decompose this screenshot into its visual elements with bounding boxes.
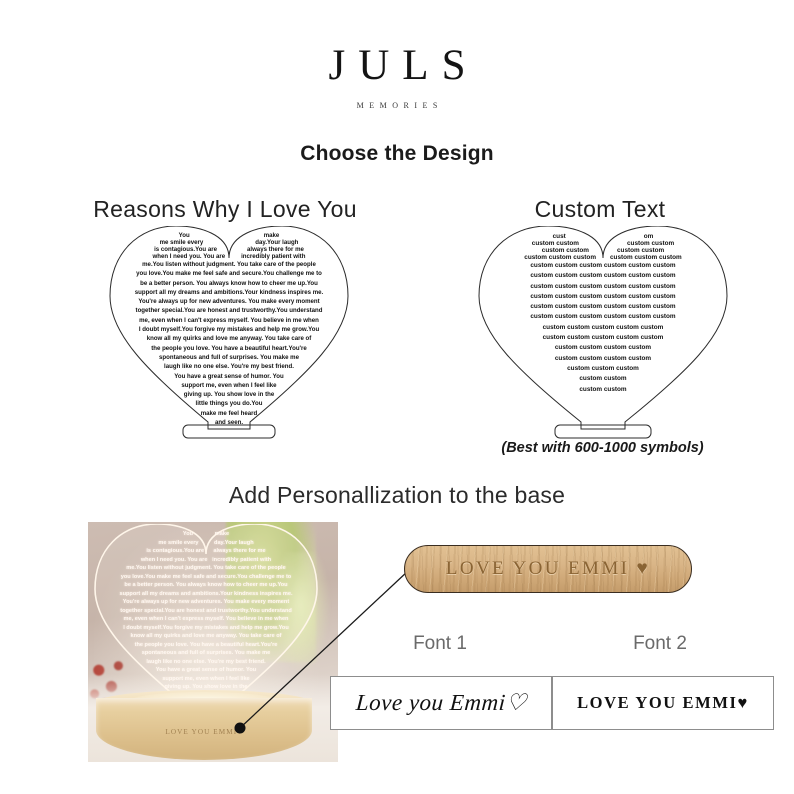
heart-line: me.You listen without judgment. You take…	[90, 564, 322, 573]
design-option-reasons-why[interactable]: Youmakeme smile everyday.Your laughis co…	[104, 226, 354, 441]
heart-line: You're always up for new adventures. You…	[90, 598, 322, 607]
heart-line: me, even when I can't express myself. Yo…	[90, 615, 322, 624]
heart-line: I doubt myself.You forgive my mistakes a…	[90, 624, 322, 633]
symbols-hint: (Best with 600-1000 symbols)	[455, 440, 750, 456]
base-engraving-text: LOVE YOU EMMI♥	[96, 728, 312, 736]
font-1-option[interactable]: Love you Emmi♡	[330, 676, 552, 730]
add-personalization-heading: Add Personallization to the base	[0, 482, 794, 509]
choose-design-heading: Choose the Design	[0, 142, 794, 166]
heart-line: when I need you. You are incredibly pati…	[90, 556, 322, 565]
heart-line: support me, even when I feel like	[90, 675, 322, 684]
heart-line: you love.You make me feel safe and secur…	[90, 573, 322, 582]
heart-line: You make	[90, 530, 322, 539]
heart-line: spontaneous and full of surprises. You m…	[90, 649, 322, 658]
acrylic-heart-text: You makeme smile every day.Your laughis …	[90, 524, 322, 718]
heart-line: support all my dreams and ambitions.Your…	[90, 590, 322, 599]
font-2-label: Font 2	[570, 633, 750, 655]
font-1-sample: Love you Emmi♡	[355, 690, 528, 716]
brand-name: JULS	[0, 44, 794, 87]
wood-bar-engraving: LOVE YOU EMMI ♥	[405, 546, 691, 592]
heart-outline-icon	[473, 226, 733, 441]
heart-outline-icon	[104, 226, 354, 441]
heart-line: is contagious.You are always there for m…	[90, 547, 322, 556]
design-title-reasons: Reasons Why I Love You	[45, 196, 405, 223]
wooden-base-preview[interactable]: LOVE YOU EMMI ♥	[404, 545, 692, 593]
product-photo: You makeme smile every day.Your laughis …	[88, 522, 338, 762]
brand-tagline: MEMORIES	[0, 101, 794, 110]
font-1-label: Font 1	[350, 633, 530, 655]
heart-line: laugh like no one else. You're my best f…	[90, 658, 322, 667]
heart-line: me smile every day.Your laugh	[90, 539, 322, 548]
font-2-option[interactable]: LOVE YOU EMMI♥	[552, 676, 774, 730]
font-2-sample: LOVE YOU EMMI♥	[577, 693, 749, 713]
heart-line: the people you love. You have a beautifu…	[90, 641, 322, 650]
design-option-custom-text[interactable]: customcustom customcustom customcustom c…	[473, 226, 733, 441]
brand-logo: JULS MEMORIES	[0, 44, 794, 110]
heart-line: together special.You are honest and trus…	[90, 607, 322, 616]
design-title-custom: Custom Text	[455, 196, 745, 223]
product-listing-image: JULS MEMORIES Choose the Design Reasons …	[0, 0, 794, 794]
heart-line: be a better person. You always know how …	[90, 581, 322, 590]
heart-line: know all my quirks and love me anyway. Y…	[90, 632, 322, 641]
heart-line: You have a great sense of humor. You	[90, 666, 322, 675]
